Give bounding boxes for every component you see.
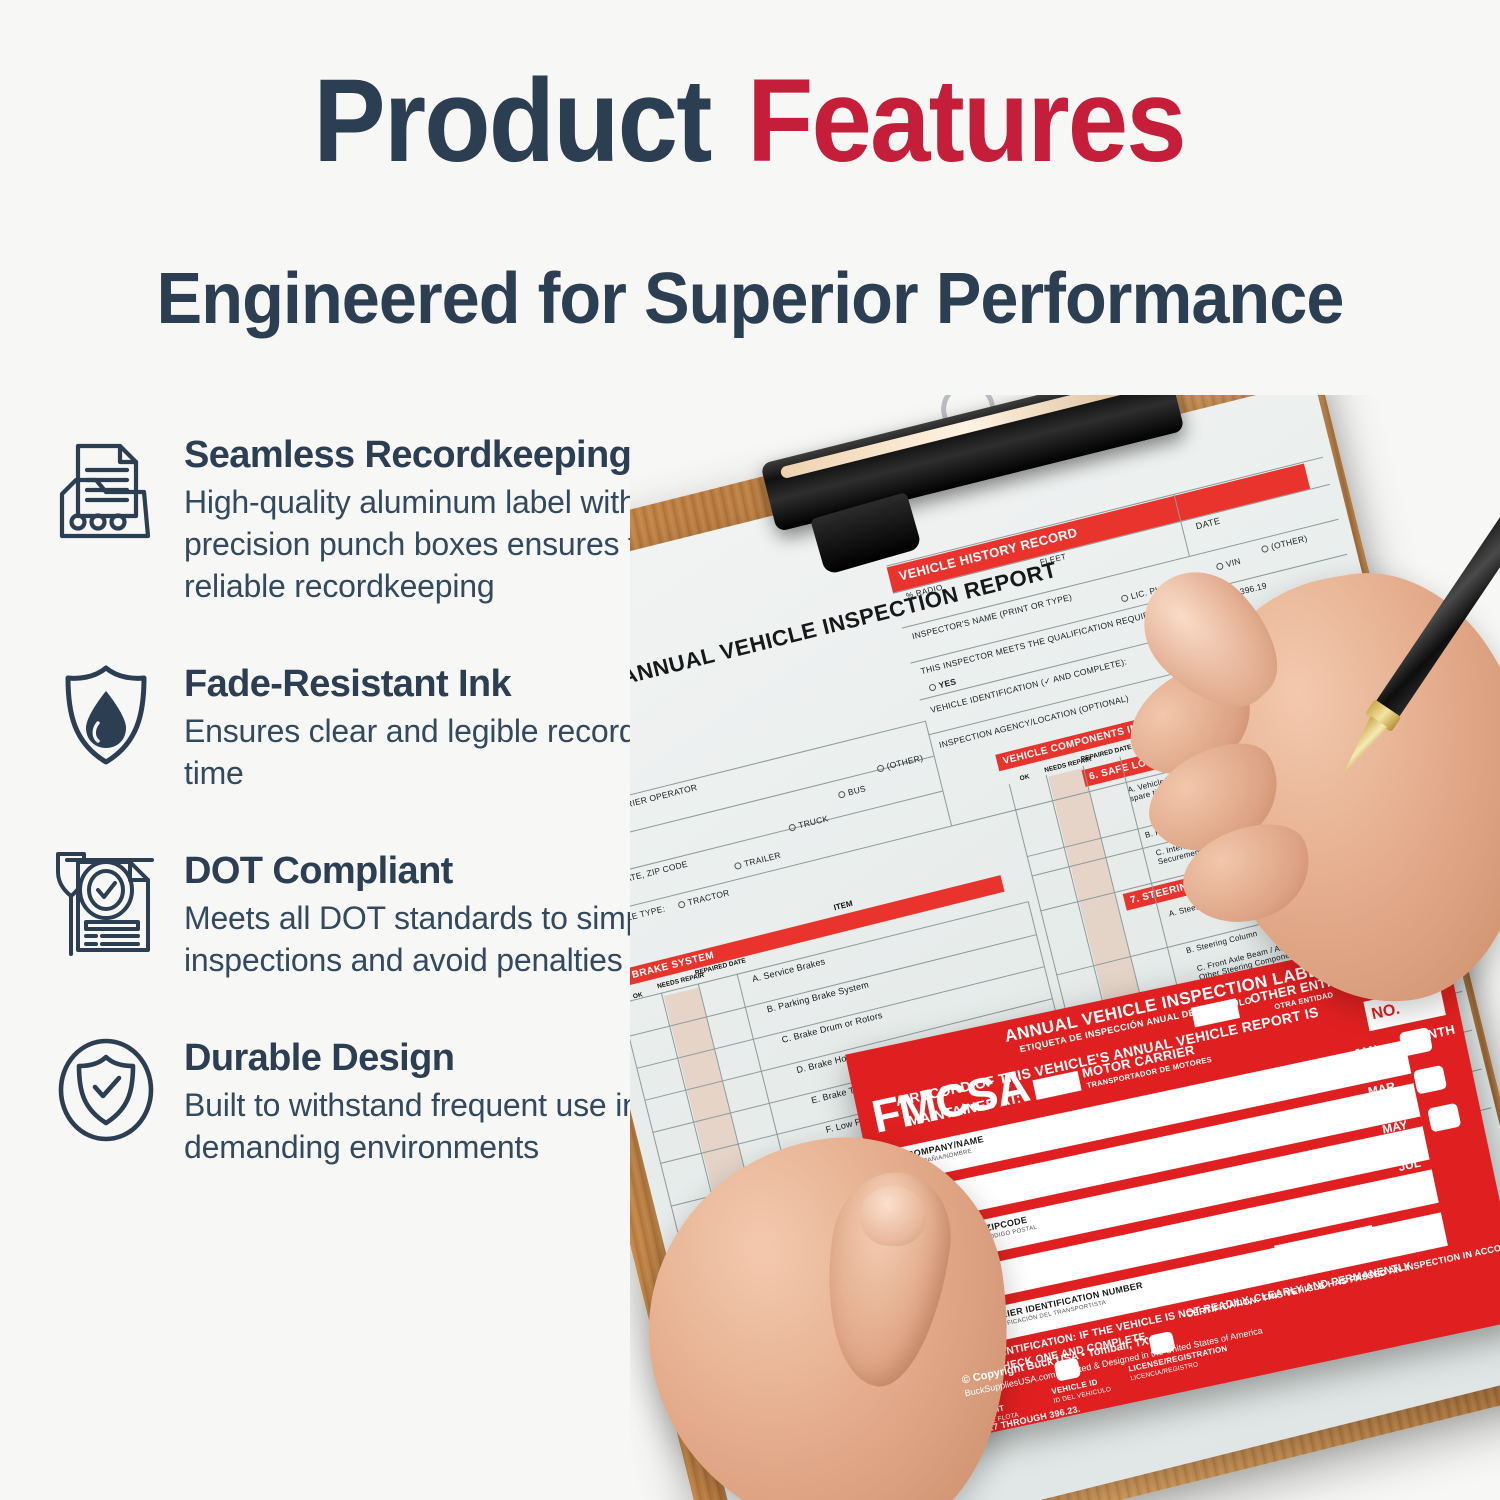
thumb — [813, 1164, 960, 1393]
shield-droplet-icon — [52, 657, 160, 775]
vehicle-type-label: VEHICLE TYPE: — [630, 903, 666, 929]
other-id-radio[interactable] — [1261, 545, 1269, 553]
form-title: ANNUAL VEHICLE INSPECTION REPORT — [630, 557, 1060, 691]
vehicle-type-bus: BUS — [837, 783, 867, 800]
title-product: Product — [313, 62, 710, 180]
trailer-radio[interactable] — [734, 862, 742, 870]
other-type-label: (OTHER) — [886, 753, 924, 772]
steering-section-number: 7. — [1129, 893, 1141, 906]
bus-label: BUS — [847, 783, 867, 797]
vin-option: VIN — [1215, 556, 1242, 572]
vehicle-type-other: (OTHER) — [876, 753, 924, 774]
product-photo: BUCK U.S. ANNUAL VEHICLE INSPECTION REPO… — [630, 395, 1500, 1500]
trailer-label: TRAILER — [743, 850, 782, 869]
yes-label: YES — [938, 676, 958, 690]
vin-radio[interactable] — [1216, 562, 1224, 570]
thumbnail — [859, 1185, 927, 1247]
truck-label: TRUCK — [797, 813, 829, 830]
yes-radio[interactable] — [928, 683, 936, 691]
page-title: ProductFeatures — [0, 62, 1500, 180]
page-subtitle: Engineered for Superior Performance — [38, 258, 1463, 340]
col-repaired-date-right: REPAIRED DATE — [1080, 748, 1115, 763]
title-features: Features — [747, 62, 1185, 180]
lic-plate-radio[interactable] — [1120, 594, 1128, 602]
vin-label: VIN — [1225, 556, 1242, 569]
month-punch-box-mar[interactable] — [1413, 1065, 1447, 1095]
other-type-radio[interactable] — [876, 764, 884, 772]
date-label: DATE — [1195, 516, 1222, 532]
bus-radio[interactable] — [838, 790, 846, 798]
vehicle-type-truck: TRUCK — [788, 813, 830, 833]
document-folder-icon — [52, 432, 160, 550]
shield-check-circle-icon — [52, 1031, 160, 1149]
month-punch-box-may[interactable] — [1427, 1103, 1461, 1133]
col-ok-right: OK — [1009, 771, 1040, 785]
certified-document-icon — [52, 844, 160, 962]
month-punch-box-jan[interactable] — [1399, 1027, 1433, 1057]
other-id-label: (OTHER) — [1270, 533, 1308, 552]
tractor-radio[interactable] — [677, 900, 685, 908]
city-state-zip-label: CITY, STATE, ZIP CODE — [630, 859, 689, 893]
safeloading-section-number: 6. — [1088, 770, 1100, 783]
truck-radio[interactable] — [788, 823, 796, 831]
col-needs-repair-left: NEEDS REPAIR — [656, 975, 691, 990]
vehicle-type-trailer: TRAILER — [733, 850, 782, 871]
